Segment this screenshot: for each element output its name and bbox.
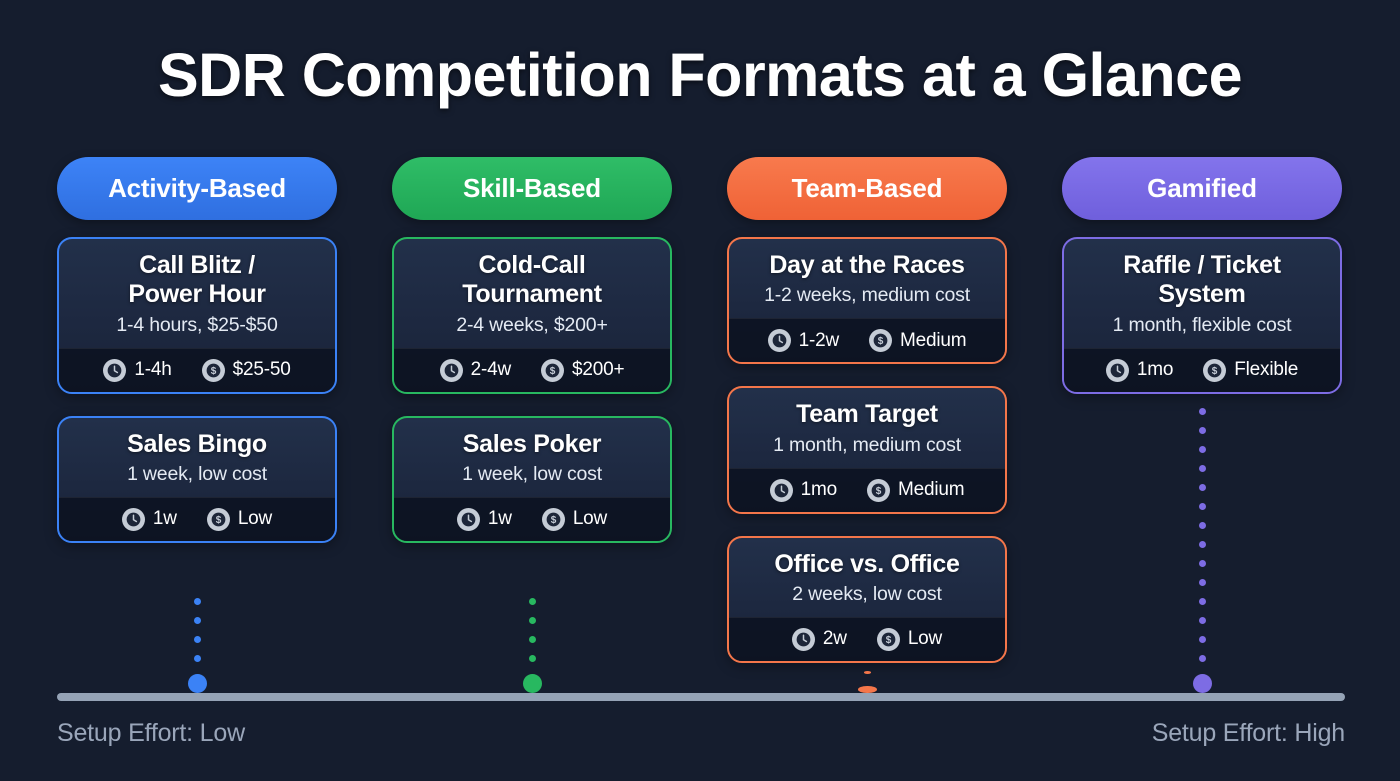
card-subtitle: 1-2 weeks, medium cost [739,284,995,307]
svg-text:$: $ [550,366,556,377]
column-team-based: Team-BasedDay at the Races1-2 weeks, med… [727,157,1007,685]
card-title: Office vs. Office [739,550,995,579]
meta-chip-time-label: 1w [488,508,512,530]
card-meta-footer: 2-4w$$200+ [394,348,670,392]
meta-chip-time: 1w [122,508,177,531]
meta-chip-time-label: 2w [823,628,847,650]
meta-chip-time: 1w [457,508,512,531]
connector-dot [1199,408,1206,415]
meta-chip-time-label: 1w [153,508,177,530]
svg-text:$: $ [876,486,882,497]
connector-dot [194,598,201,605]
connector-dot [529,636,536,643]
card-body: Day at the Races1-2 weeks, medium cost [729,239,1005,318]
card-title: Sales Bingo [69,430,325,459]
connector-dot [1199,598,1206,605]
meta-chip-time: 2w [792,628,847,651]
meta-chip-cost: $$200+ [541,359,624,382]
connector-dot [1199,427,1206,434]
card-body: Call Blitz /Power Hour1-4 hours, $25-$50 [59,239,335,348]
card-subtitle: 1 month, medium cost [739,434,995,457]
connector-activity-based [192,551,202,693]
connector-team-based [862,671,872,693]
meta-chip-time-label: 1mo [1137,359,1173,381]
connector-dot [1199,484,1206,491]
meta-chip-time-label: 1mo [801,479,837,501]
meta-chip-cost: $Low [207,508,272,531]
card-body: Office vs. Office2 weeks, low cost [729,538,1005,617]
meta-chip-time: 1mo [1106,359,1173,382]
meta-chip-cost: $$25-50 [202,359,291,382]
connector-endpoint-dot [523,674,542,693]
meta-chip-cost: $Low [877,628,942,651]
clock-icon [457,508,480,531]
svg-text:$: $ [551,515,557,526]
card-subtitle: 2-4 weeks, $200+ [404,314,660,337]
card-list: Raffle / TicketSystem1 month, flexible c… [1062,237,1342,416]
clock-icon [103,359,126,382]
axis-label-low: Setup Effort: Low [57,719,245,748]
card-body: Raffle / TicketSystem1 month, flexible c… [1064,239,1340,348]
format-card[interactable]: Office vs. Office2 weeks, low cost2w$Low [727,536,1007,663]
card-title: Cold-CallTournament [404,251,660,310]
connector-dot [864,671,871,674]
connector-dot [529,617,536,624]
connector-dot [529,655,536,662]
dollar-icon: $ [541,359,564,382]
clock-icon [122,508,145,531]
card-meta-footer: 1-2w$Medium [729,318,1005,362]
dollar-icon: $ [1203,359,1226,382]
card-meta-footer: 2w$Low [729,617,1005,661]
card-subtitle: 1 week, low cost [69,463,325,486]
meta-chip-cost-label: Flexible [1234,359,1298,381]
connector-dot [194,617,201,624]
connector-dot [194,655,201,662]
category-pill-label: Skill-Based [463,173,601,204]
meta-chip-time-label: 1-2w [799,330,839,352]
connector-dot [1199,503,1206,510]
connector-dot [1199,617,1206,624]
card-body: Team Target1 month, medium cost [729,388,1005,467]
svg-text:$: $ [886,635,892,646]
meta-chip-cost-label: Low [238,508,272,530]
card-body: Sales Poker1 week, low cost [394,418,670,497]
meta-chip-time-label: 1-4h [134,359,171,381]
infographic-canvas: SDR Competition Formats at a Glance Acti… [0,0,1400,781]
connector-dot [1199,560,1206,567]
card-body: Sales Bingo1 week, low cost [59,418,335,497]
meta-chip-cost-label: Low [908,628,942,650]
axis-label-high: Setup Effort: High [1152,719,1345,748]
format-card[interactable]: Team Target1 month, medium cost1mo$Mediu… [727,386,1007,513]
card-subtitle: 2 weeks, low cost [739,583,995,606]
connector-dot [194,636,201,643]
clock-icon [1106,359,1129,382]
dollar-icon: $ [202,359,225,382]
svg-text:$: $ [216,515,222,526]
column-gamified: GamifiedRaffle / TicketSystem1 month, fl… [1062,157,1342,416]
connector-dot [1199,655,1206,662]
card-meta-footer: 1mo$Medium [729,468,1005,512]
connector-dot [1199,522,1206,529]
format-card[interactable]: Call Blitz /Power Hour1-4 hours, $25-$50… [57,237,337,394]
connector-skill-based [527,551,537,693]
card-subtitle: 1-4 hours, $25-$50 [69,314,325,337]
meta-chip-time: 1-4h [103,359,171,382]
meta-chip-cost: $Medium [869,329,966,352]
meta-chip-cost: $Low [542,508,607,531]
category-pill-label: Gamified [1147,173,1257,204]
category-pill-activity-based[interactable]: Activity-Based [57,157,337,220]
setup-effort-axis-bar [57,693,1345,701]
card-title: Day at the Races [739,251,995,280]
card-title-line2: Tournament [462,280,602,308]
meta-chip-cost-label: Medium [898,479,964,501]
card-title-line2: Power Hour [128,280,265,308]
format-card[interactable]: Raffle / TicketSystem1 month, flexible c… [1062,237,1342,394]
card-list: Call Blitz /Power Hour1-4 hours, $25-$50… [57,237,337,565]
connector-dot [529,598,536,605]
card-body: Cold-CallTournament2-4 weeks, $200+ [394,239,670,348]
meta-chip-time-label: 2-4w [471,359,511,381]
dollar-icon: $ [207,508,230,531]
connector-gamified [1197,402,1207,693]
category-pill-label: Activity-Based [108,173,286,204]
category-pill-gamified[interactable]: Gamified [1062,157,1342,220]
meta-chip-cost-label: $25-50 [233,359,291,381]
connector-dot [1199,541,1206,548]
clock-icon [792,628,815,651]
category-pill-team-based[interactable]: Team-Based [727,157,1007,220]
card-title: Call Blitz /Power Hour [69,251,325,310]
svg-text:$: $ [878,336,884,347]
column-activity-based: Activity-BasedCall Blitz /Power Hour1-4 … [57,157,337,565]
dollar-icon: $ [869,329,892,352]
connector-dot [1199,446,1206,453]
meta-chip-cost: $Medium [867,479,964,502]
card-list: Day at the Races1-2 weeks, medium cost1-… [727,237,1007,685]
meta-chip-time: 1-2w [768,329,839,352]
connector-endpoint-dot [1193,674,1212,693]
column-skill-based: Skill-BasedCold-CallTournament2-4 weeks,… [392,157,672,565]
card-subtitle: 1 week, low cost [404,463,660,486]
meta-chip-cost-label: Low [573,508,607,530]
connector-dot [1199,636,1206,643]
card-meta-footer: 1mo$Flexible [1064,348,1340,392]
meta-chip-cost-label: Medium [900,330,966,352]
category-pill-skill-based[interactable]: Skill-Based [392,157,672,220]
format-card[interactable]: Cold-CallTournament2-4 weeks, $200+2-4w$… [392,237,672,394]
clock-icon [440,359,463,382]
dollar-icon: $ [542,508,565,531]
card-list: Cold-CallTournament2-4 weeks, $200+2-4w$… [392,237,672,565]
card-meta-footer: 1-4h$$25-50 [59,348,335,392]
card-title: Sales Poker [404,430,660,459]
svg-text:$: $ [210,366,216,377]
card-title-line2: System [1158,280,1245,308]
clock-icon [770,479,793,502]
clock-icon [768,329,791,352]
svg-text:$: $ [1212,366,1218,377]
category-pill-label: Team-Based [792,173,943,204]
connector-dot [1199,465,1206,472]
format-card[interactable]: Sales Poker1 week, low cost1w$Low [392,416,672,543]
connector-endpoint-dot [858,686,877,693]
format-card[interactable]: Sales Bingo1 week, low cost1w$Low [57,416,337,543]
dollar-icon: $ [877,628,900,651]
card-title: Raffle / TicketSystem [1074,251,1330,310]
meta-chip-time: 1mo [770,479,837,502]
meta-chip-cost-label: $200+ [572,359,624,381]
card-title: Team Target [739,400,995,429]
format-card[interactable]: Day at the Races1-2 weeks, medium cost1-… [727,237,1007,364]
meta-chip-time: 2-4w [440,359,511,382]
card-subtitle: 1 month, flexible cost [1074,314,1330,337]
card-meta-footer: 1w$Low [59,497,335,541]
page-title: SDR Competition Formats at a Glance [0,40,1400,110]
dollar-icon: $ [867,479,890,502]
card-meta-footer: 1w$Low [394,497,670,541]
meta-chip-cost: $Flexible [1203,359,1298,382]
connector-endpoint-dot [188,674,207,693]
connector-dot [1199,579,1206,586]
